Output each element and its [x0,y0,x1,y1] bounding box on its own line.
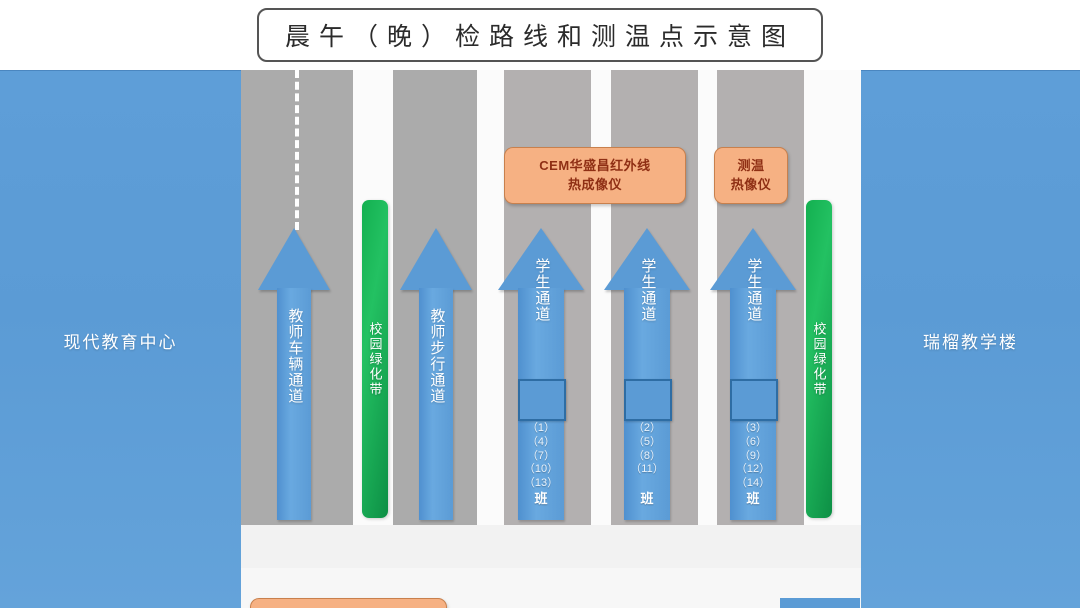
entrance-plaza [241,525,861,568]
arrow-head-icon [400,228,472,290]
green-belt-left: 校园绿化带 [362,200,388,518]
thermal-imager-box-2-text: 测温 热像仪 [731,157,772,195]
diagram-canvas: 现代教育中心 瑞榴教学楼 校园绿化带 校园绿化带 教师车辆通道 教师步行通道 学… [0,70,1080,608]
title-box: 晨午（晚）检路线和测温点示意图 [257,8,823,62]
handheld-thermometer-box[interactable]: 手持额温枪 [250,598,447,608]
green-belt-left-label: 校园绿化带 [366,322,385,397]
arrow-head-icon [710,228,796,290]
arrow-shaft [277,288,311,520]
handheld-thermometer-label: 手持额温枪 [304,605,394,608]
building-right-label: 瑞榴教学楼 [923,328,1018,353]
temperature-station-1[interactable] [518,379,566,421]
building-left-label: 现代教育中心 [64,328,178,353]
arrow-shaft [419,288,453,520]
arrow-head-icon [604,228,690,290]
arrow-teacher-vehicle: 教师车辆通道 [258,228,330,520]
lane-dashed-center-line [295,70,299,230]
green-belt-right-label: 校园绿化带 [810,322,829,397]
building-left: 现代教育中心 [0,70,241,608]
arrow-head-icon [258,228,330,290]
arrow-student-1: 学生通道 [498,228,584,520]
arrow-student-3: 学生通道 [710,228,796,520]
thermal-imager-box-1[interactable]: CEM华盛昌红外线 热成像仪 [504,147,686,204]
duty-room-box[interactable]: 值班室 [780,598,860,608]
temperature-station-2[interactable] [624,379,672,421]
building-right: 瑞榴教学楼 [861,70,1080,608]
thermal-imager-box-1-text: CEM华盛昌红外线 热成像仪 [539,157,650,195]
temperature-station-3[interactable] [730,379,778,421]
page-title: 晨午（晚）检路线和测温点示意图 [285,23,795,51]
thermal-imager-box-2[interactable]: 测温 热像仪 [714,147,788,204]
title-bar: 晨午（晚）检路线和测温点示意图 [0,0,1080,70]
green-belt-right: 校园绿化带 [806,200,832,518]
arrow-student-2: 学生通道 [604,228,690,520]
arrow-teacher-walk: 教师步行通道 [400,228,472,520]
arrow-head-icon [498,228,584,290]
